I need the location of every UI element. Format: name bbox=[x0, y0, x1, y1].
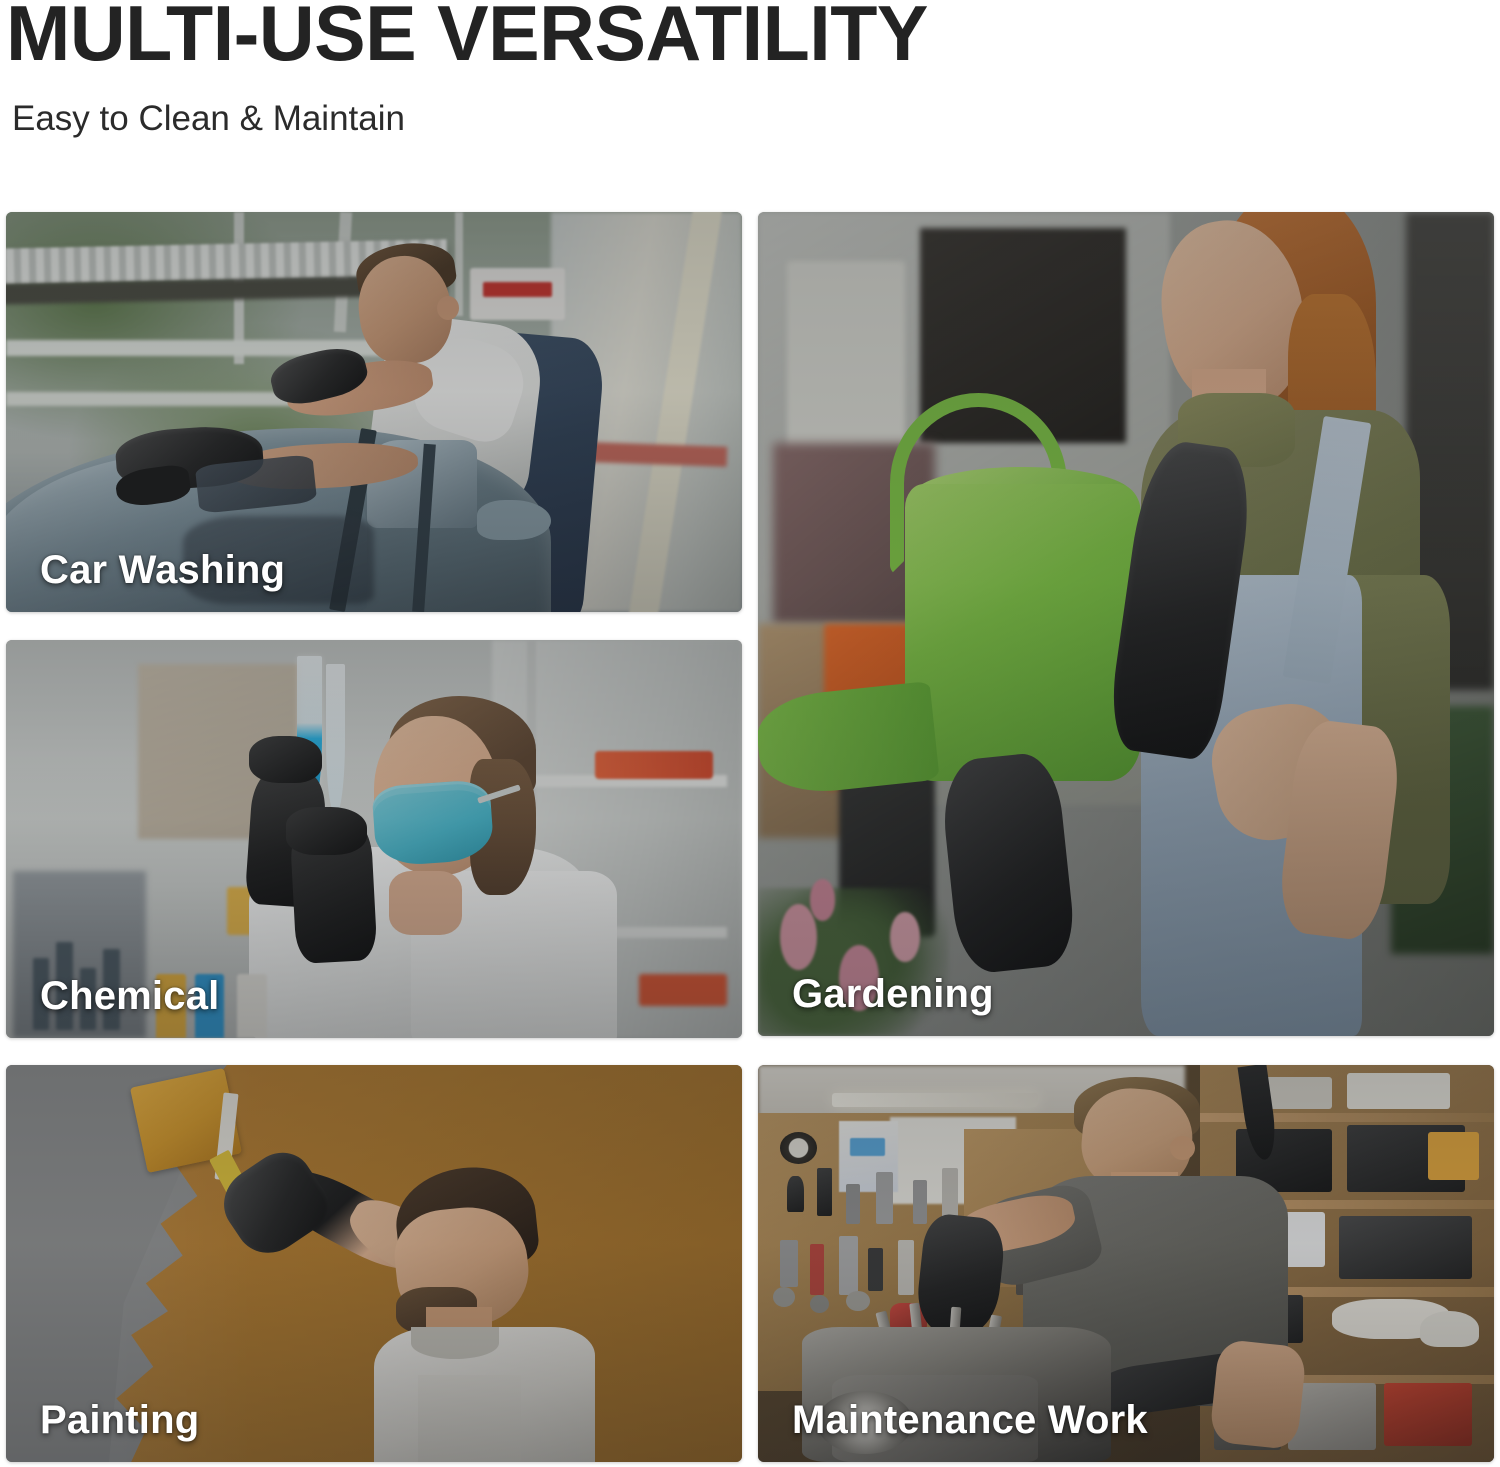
use-case-card-maintenance-work[interactable]: Maintenance Work bbox=[758, 1065, 1494, 1462]
use-case-card-chemical[interactable]: Chemical bbox=[6, 640, 742, 1038]
use-case-caption: Gardening bbox=[792, 974, 994, 1014]
use-case-card-painting[interactable]: Painting bbox=[6, 1065, 742, 1462]
use-case-card-gardening[interactable]: Gardening bbox=[758, 212, 1494, 1036]
use-case-caption: Maintenance Work bbox=[792, 1400, 1148, 1440]
use-case-grid: Car Washing bbox=[0, 0, 1500, 1467]
use-case-caption: Painting bbox=[40, 1400, 199, 1440]
product-feature-page: MULTI-USE VERSATILITY Easy to Clean & Ma… bbox=[0, 0, 1500, 1467]
image-overlay bbox=[758, 212, 1494, 1036]
use-case-caption: Chemical bbox=[40, 976, 219, 1016]
use-case-caption: Car Washing bbox=[40, 550, 285, 590]
use-case-card-car-washing[interactable]: Car Washing bbox=[6, 212, 742, 612]
